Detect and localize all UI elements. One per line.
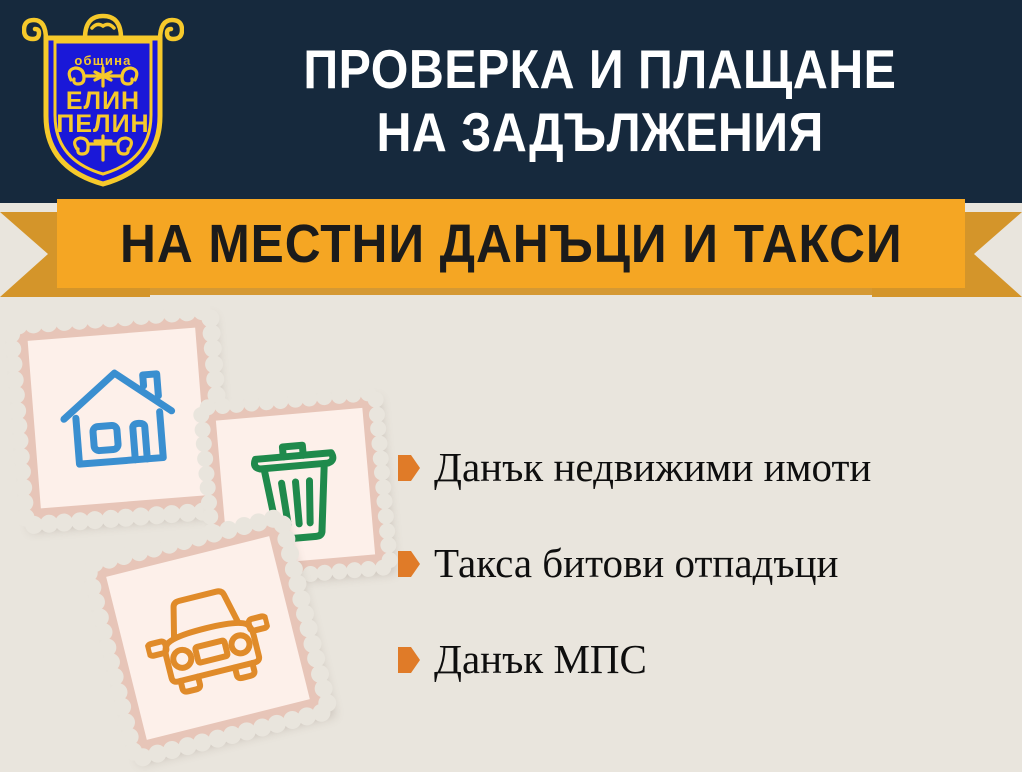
house-icon	[54, 358, 182, 477]
title-line-2: НА ЗАДЪЛЖЕНИЯ	[376, 104, 823, 162]
bullet-arrow-icon	[398, 551, 420, 577]
logo-text-pelin: ПЕЛИН	[56, 110, 149, 138]
car-front-icon	[134, 572, 281, 703]
list-item-label: Данък недвижими имоти	[434, 446, 871, 489]
list-item[interactable]: Такса битови отпадъци	[398, 516, 1008, 612]
stamp-card-property-inner	[28, 328, 209, 509]
logo-text-obshtina: община	[74, 53, 131, 68]
stamp-scallop-notch	[331, 563, 348, 580]
ribbon-label: НА МЕСТНИ ДАНЪЦИ И ТАКСИ	[120, 217, 903, 271]
list-item-label: Такса битови отпадъци	[434, 542, 838, 585]
stamp-card-vehicle-inner	[106, 536, 310, 740]
list-item[interactable]: Данък МПС	[398, 612, 1008, 708]
stamp-scallop-notch	[381, 551, 398, 568]
stamp-card-vehicle	[87, 517, 329, 759]
list-item[interactable]: Данък недвижими имоти	[398, 420, 1008, 516]
subtitle-ribbon: НА МЕСТНИ ДАНЪЦИ И ТАКСИ	[0, 196, 1022, 304]
poster-canvas: община ЕЛИН ПЕЛИН ПРОВЕРКА И ПЛАЩ	[0, 0, 1022, 772]
page-title: ПРОВЕРКА И ПЛАЩАНЕ НА ЗАДЪЛЖЕНИЯ	[190, 14, 1010, 189]
bullet-arrow-icon	[398, 455, 420, 481]
ribbon-band: НА МЕСТНИ ДАНЪЦИ И ТАКСИ	[57, 199, 965, 288]
title-line-1: ПРОВЕРКА И ПЛАЩАНЕ	[304, 41, 897, 99]
tax-types-list: Данък недвижими имоти Такса битови отпад…	[398, 420, 1008, 708]
municipality-logo: община ЕЛИН ПЕЛИН	[22, 8, 184, 190]
list-item-label: Данък МПС	[434, 638, 647, 681]
stamp-scallop-notch	[316, 388, 333, 405]
bullet-arrow-icon	[398, 647, 420, 673]
